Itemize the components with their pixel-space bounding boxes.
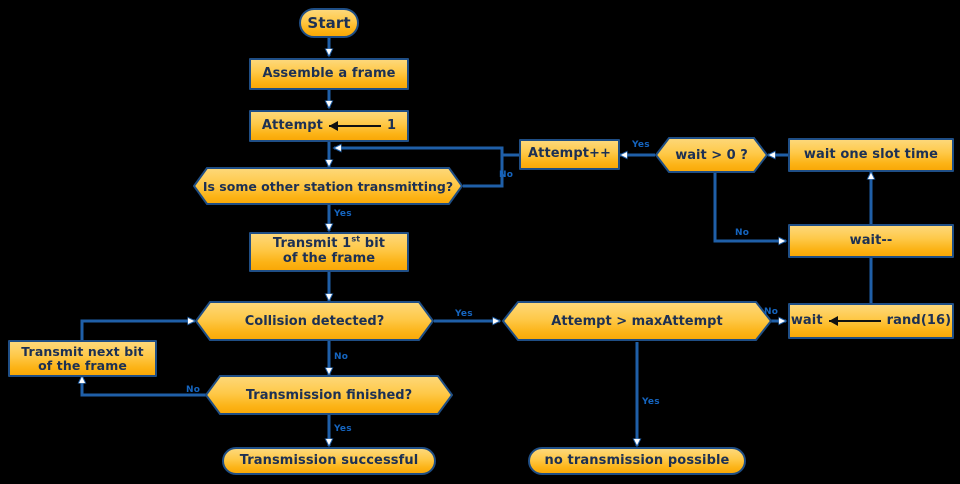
edge-label-attempt-max-no: No [764,307,778,317]
edge-label-wait-gt-zero-no: No [735,228,749,238]
node-wait-assign-rand[interactable]: wait rand(16) [788,303,954,339]
node-wait-one-slot-time[interactable]: wait one slot time [788,138,954,172]
node-attempt-greater-than-max[interactable]: Attempt > maxAttempt [502,301,772,341]
attempt-init-lhs: Attempt [262,119,329,134]
node-wait-one-slot-time-label: wait one slot time [796,148,946,163]
wait-assign-expression: wait rand(16) [783,314,959,329]
transmit-first-bit-line1: Transmit 1st bit [265,237,393,252]
attempt-init-rhs: 1 [381,119,396,134]
edge-label-finished-yes: Yes [334,424,352,434]
node-transmit-first-bit[interactable]: Transmit 1st bit of the frame [249,232,409,272]
assignment-arrow-icon [329,121,381,131]
node-start[interactable]: Start [299,8,359,38]
node-transmission-successful-label: Transmission successful [232,454,427,469]
node-wait-decrement-label: wait-- [842,234,901,249]
wait-assign-rhs: rand(16) [881,314,952,329]
node-no-transmission-possible-label: no transmission possible [537,454,738,469]
hexagon-shape [195,301,434,341]
transmit-next-bit-line1: Transmit next bit [13,345,151,359]
hexagon-shape [193,167,463,205]
node-transmit-next-bit[interactable]: Transmit next bit of the frame [8,340,157,377]
ordinal-suffix: st [351,235,360,244]
node-attempt-increment[interactable]: Attempt++ [519,139,620,170]
node-assemble-a-frame-label: Assemble a frame [254,67,403,82]
node-start-label: Start [299,15,358,32]
wait-assign-lhs: wait [791,314,829,329]
node-transmission-successful[interactable]: Transmission successful [222,447,436,475]
node-wait-decrement[interactable]: wait-- [788,224,954,258]
edge-label-other-station-no: No [499,170,513,180]
node-wait-greater-than-zero[interactable]: wait > 0 ? [655,137,768,173]
attempt-init-expression: Attempt 1 [254,119,404,134]
node-no-transmission-possible[interactable]: no transmission possible [528,447,746,475]
hexagon-shape [502,301,772,341]
edge-label-collision-no: No [334,352,348,362]
node-attempt-increment-label: Attempt++ [520,147,619,162]
edge-label-attempt-max-yes: Yes [642,397,660,407]
hexagon-shape [655,137,768,173]
transmit-next-bit-line2: of the frame [30,359,135,373]
transmit-first-bit-line1-post: bit [360,236,385,251]
edge-label-collision-yes: Yes [455,309,473,319]
flowchart-canvas: Start Assemble a frame Attempt 1 Is some… [0,0,960,484]
transmit-first-bit-line1-pre: Transmit 1 [273,236,351,251]
node-attempt-init[interactable]: Attempt 1 [249,110,409,142]
node-transmission-finished[interactable]: Transmission finished? [205,375,453,415]
edge-label-other-station-yes: Yes [334,209,352,219]
node-assemble-a-frame[interactable]: Assemble a frame [249,58,409,90]
edge-label-wait-gt-zero-yes: Yes [632,140,650,150]
node-collision-detected[interactable]: Collision detected? [195,301,434,341]
transmit-first-bit-line2: of the frame [275,252,383,267]
assignment-arrow-icon [829,316,881,326]
hexagon-shape [205,375,453,415]
edge-label-finished-no: No [186,385,200,395]
node-is-other-station-transmitting[interactable]: Is some other station transmitting? [193,167,463,205]
